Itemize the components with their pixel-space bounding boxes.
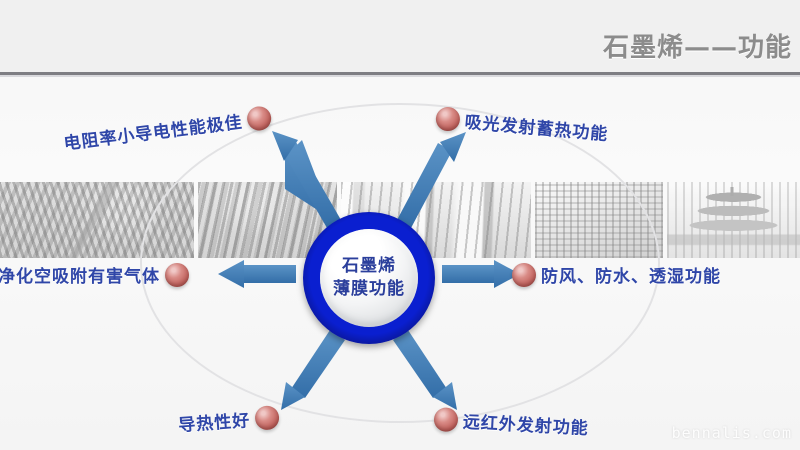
sphere-icon: [433, 407, 458, 432]
sphere-icon: [165, 263, 189, 287]
hub-inner: 石墨烯 薄膜功能: [320, 229, 418, 327]
sphere-icon: [246, 105, 273, 132]
sphere-icon: [435, 106, 461, 132]
node-bottom-right-label: 远红外发射功能: [462, 408, 589, 440]
page-title: 石墨烯——功能: [603, 27, 792, 64]
node-right[interactable]: 防风、防水、透湿功能: [512, 262, 721, 287]
node-bottom-left-label: 导热性好: [177, 406, 251, 436]
slide-canvas: 石墨烯——功能: [0, 0, 800, 450]
hub-label-line2: 薄膜功能: [333, 278, 405, 301]
photo-temple: [667, 182, 800, 258]
watermark: bennalis.com: [672, 424, 792, 442]
node-left-label: 净化空吸附有害气体: [0, 262, 160, 287]
node-left[interactable]: 净化空吸附有害气体: [0, 262, 189, 287]
sphere-icon: [512, 263, 536, 287]
node-bottom-right[interactable]: 远红外发射功能: [433, 406, 589, 439]
node-bottom-left[interactable]: 导热性好: [177, 404, 279, 436]
hub-label-line1: 石墨烯: [342, 255, 396, 278]
header-divider-light: [0, 75, 800, 77]
sphere-icon: [254, 405, 280, 431]
slide-header: 石墨烯——功能: [0, 0, 800, 72]
center-hub[interactable]: 石墨烯 薄膜功能: [303, 212, 435, 344]
node-top-left-label: 电阻率小导电性能极佳: [62, 108, 244, 155]
node-right-label: 防风、防水、透湿功能: [541, 262, 721, 287]
